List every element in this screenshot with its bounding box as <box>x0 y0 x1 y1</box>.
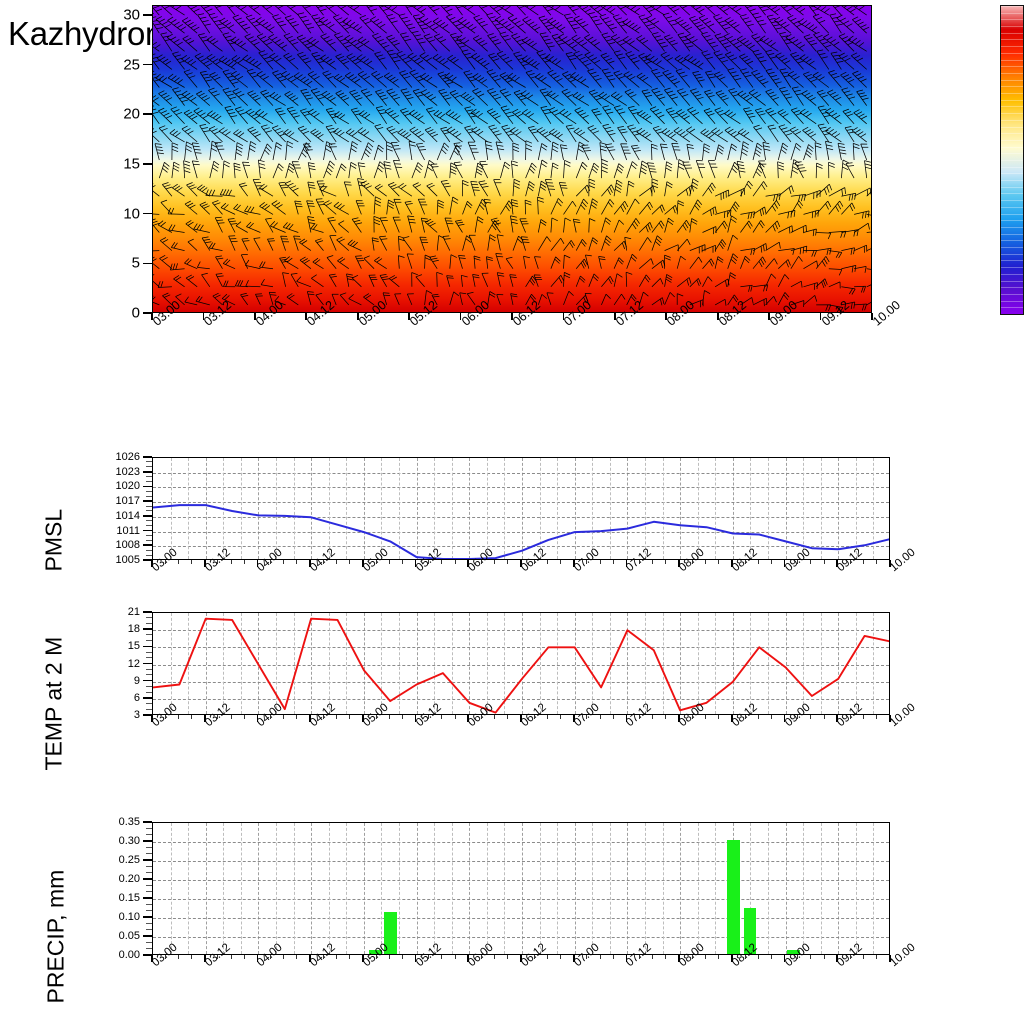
x-minor-tick <box>692 715 693 719</box>
grid-line-h <box>153 880 889 881</box>
x-minor-tick <box>560 955 561 959</box>
colorbar-band <box>1001 247 1023 248</box>
x-minor-tick <box>613 560 614 564</box>
x-minor-tick <box>613 715 614 719</box>
y-tick-label: 0.30 <box>90 835 140 847</box>
y-minor-tick <box>146 674 152 675</box>
x-minor-tick <box>336 955 337 959</box>
y-tick-label: 15 <box>90 155 140 172</box>
x-minor-tick <box>323 560 324 564</box>
x-minor-tick <box>758 955 759 959</box>
x-minor-tick <box>824 715 825 719</box>
y-minor-tick <box>146 466 152 467</box>
y-minor-tick <box>146 555 152 556</box>
y-minor-tick <box>146 496 152 497</box>
x-minor-tick <box>402 715 403 719</box>
x-minor-tick <box>560 560 561 564</box>
y-tick <box>143 680 152 682</box>
x-minor-tick <box>547 955 548 959</box>
y-tick <box>143 628 152 630</box>
colorbar-band <box>1001 307 1023 308</box>
y-tick-label: 0.15 <box>90 892 140 904</box>
x-minor-tick <box>718 955 719 959</box>
x-minor-tick <box>389 560 390 564</box>
y-tick-label: 5 <box>90 255 140 272</box>
grid-line-v-minor <box>663 823 664 954</box>
x-minor-tick <box>349 955 350 959</box>
grid-line-v-minor <box>241 823 242 954</box>
grid-line-v-minor <box>610 823 611 954</box>
grid-line-v-minor <box>873 823 874 954</box>
x-minor-tick <box>481 715 482 719</box>
grid-line-v-minor <box>171 823 172 954</box>
temp-plot-area[interactable] <box>152 612 890 715</box>
wind-barb-field <box>153 6 872 313</box>
x-minor-tick <box>389 955 390 959</box>
x-minor-tick <box>692 560 693 564</box>
grid-line-v <box>786 823 787 954</box>
colorbar-band <box>1001 187 1023 188</box>
series-line <box>153 613 890 715</box>
y-minor-tick <box>146 461 152 462</box>
x-minor-tick <box>652 560 653 564</box>
grid-line-v <box>469 823 470 954</box>
y-tick-label: 0.20 <box>90 873 140 885</box>
y-minor-tick <box>146 834 152 835</box>
grid-line-v-minor <box>294 823 295 954</box>
x-minor-tick <box>296 955 297 959</box>
x-minor-tick <box>231 715 232 719</box>
y-minor-tick <box>146 686 152 687</box>
y-tick-label: 0.10 <box>90 911 140 923</box>
x-minor-tick <box>455 715 456 719</box>
colorbar-band <box>1001 127 1023 128</box>
x-minor-tick <box>665 955 666 959</box>
y-tick <box>143 897 152 899</box>
x-minor-tick <box>165 955 166 959</box>
y-minor-tick <box>146 669 152 670</box>
x-minor-tick <box>534 715 535 719</box>
y-minor-tick <box>146 617 152 618</box>
grid-line-v-minor <box>592 823 593 954</box>
y-minor-tick <box>146 550 152 551</box>
x-minor-tick <box>665 715 666 719</box>
x-minor-tick <box>481 955 482 959</box>
colorbar-band <box>1001 281 1023 282</box>
colorbar-band <box>1001 234 1023 235</box>
y-tick-label: 0 <box>90 305 140 322</box>
y-tick-label: 10 <box>90 205 140 222</box>
x-minor-tick <box>376 715 377 719</box>
y-tick <box>143 471 152 473</box>
y-tick <box>143 697 152 699</box>
x-minor-tick <box>323 715 324 719</box>
colorbar-band <box>1001 287 1023 288</box>
y-tick-label: 9 <box>90 675 140 687</box>
grid-line-v-minor <box>768 823 769 954</box>
x-minor-tick <box>336 715 337 719</box>
x-minor-tick <box>850 715 851 719</box>
grid-line-h <box>153 918 889 919</box>
y-tick-label: 30 <box>90 6 140 23</box>
grid-line-v <box>575 823 576 954</box>
x-minor-tick <box>745 560 746 564</box>
x-minor-tick <box>547 715 548 719</box>
x-minor-tick <box>705 560 706 564</box>
x-minor-tick <box>217 715 218 719</box>
x-minor-tick <box>270 715 271 719</box>
y-tick <box>143 544 152 546</box>
x-minor-tick <box>824 560 825 564</box>
y-tick <box>143 916 152 918</box>
y-tick <box>143 113 152 115</box>
x-minor-tick <box>494 715 495 719</box>
y-minor-tick <box>146 520 152 521</box>
grid-line-v-minor <box>399 823 400 954</box>
grid-line-v <box>522 823 523 954</box>
x-minor-tick <box>771 715 772 719</box>
x-minor-tick <box>586 560 587 564</box>
x-minor-tick <box>613 955 614 959</box>
x-minor-tick <box>507 560 508 564</box>
y-minor-tick <box>146 929 152 930</box>
x-minor-tick <box>600 955 601 959</box>
y-tick-label: 3 <box>90 709 140 721</box>
y-tick <box>143 859 152 861</box>
colorbar-band <box>1001 86 1023 87</box>
x-tick-label: 10.00 <box>888 546 918 574</box>
grid-line-v-minor <box>276 823 277 954</box>
grid-line-v-minor <box>346 823 347 954</box>
colorbar-band <box>1001 133 1023 134</box>
colorbar-band <box>1001 180 1023 181</box>
series-line <box>153 458 890 560</box>
precip-axis-label: PRECIP, mm <box>43 784 70 1004</box>
colorbar-band <box>1001 60 1023 61</box>
colorbar-band <box>1001 220 1023 221</box>
x-minor-tick <box>850 955 851 959</box>
grid-line-v <box>206 823 207 954</box>
y-tick-label: 1017 <box>90 495 140 507</box>
x-minor-tick <box>217 560 218 564</box>
x-minor-tick <box>402 560 403 564</box>
y-tick-label: 1023 <box>90 466 140 478</box>
x-minor-tick <box>165 560 166 564</box>
y-tick <box>143 456 152 458</box>
colorbar-band <box>1001 214 1023 215</box>
x-minor-tick <box>692 955 693 959</box>
x-minor-tick <box>296 560 297 564</box>
colorbar-band <box>1001 254 1023 255</box>
precip-panel: PRECIP, mm 0.000.050.100.150.200.250.300… <box>0 815 1024 1005</box>
x-minor-tick <box>191 955 192 959</box>
y-tick-label: 0.35 <box>90 816 140 828</box>
y-minor-tick <box>146 481 152 482</box>
x-minor-tick <box>586 955 587 959</box>
x-minor-tick <box>600 560 601 564</box>
pmsl-panel: PMSL 10051008101110141017102010231026 03… <box>0 450 1024 590</box>
grid-line-h <box>153 842 889 843</box>
x-minor-tick <box>534 560 535 564</box>
x-minor-tick <box>428 955 429 959</box>
y-tick-label: 1005 <box>90 554 140 566</box>
colorbar-band <box>1001 274 1023 275</box>
x-minor-tick <box>876 560 877 564</box>
x-minor-tick <box>797 560 798 564</box>
x-minor-tick <box>389 715 390 719</box>
x-minor-tick <box>824 955 825 959</box>
x-minor-tick <box>639 560 640 564</box>
pmsl-plot-area[interactable] <box>152 457 890 560</box>
y-tick-label: 18 <box>90 623 140 635</box>
grid-line-v <box>417 823 418 954</box>
x-minor-tick <box>349 560 350 564</box>
grid-line-v <box>627 823 628 954</box>
grid-line-v <box>838 823 839 954</box>
x-minor-tick <box>283 955 284 959</box>
x-minor-tick <box>810 560 811 564</box>
y-minor-tick <box>146 525 152 526</box>
y-tick <box>143 486 152 488</box>
x-minor-tick <box>850 560 851 564</box>
precip-plot-area[interactable] <box>152 822 890 955</box>
colorbar-band <box>1001 173 1023 174</box>
y-minor-tick <box>146 634 152 635</box>
y-minor-tick <box>146 692 152 693</box>
x-minor-tick <box>441 560 442 564</box>
grid-line-v-minor <box>803 823 804 954</box>
y-minor-tick <box>146 942 152 943</box>
y-minor-tick <box>146 904 152 905</box>
x-minor-tick <box>336 560 337 564</box>
y-minor-tick <box>146 623 152 624</box>
x-minor-tick <box>771 560 772 564</box>
y-tick-label: 21 <box>90 606 140 618</box>
grid-line-v-minor <box>452 823 453 954</box>
y-minor-tick <box>146 853 152 854</box>
x-minor-tick <box>718 715 719 719</box>
x-minor-tick <box>534 955 535 959</box>
x-minor-tick <box>323 955 324 959</box>
y-tick <box>143 646 152 648</box>
x-minor-tick <box>494 560 495 564</box>
colorbar-band <box>1001 73 1023 74</box>
x-minor-tick <box>178 715 179 719</box>
x-minor-tick <box>428 560 429 564</box>
x-minor-tick <box>270 560 271 564</box>
y-tick <box>143 14 152 16</box>
x-minor-tick <box>402 955 403 959</box>
colorbar-band <box>1001 33 1023 34</box>
x-minor-tick <box>178 560 179 564</box>
x-tick-label: 10.00 <box>888 941 918 969</box>
x-minor-tick <box>178 955 179 959</box>
colorbar-band <box>1001 120 1023 121</box>
x-minor-tick <box>494 955 495 959</box>
y-tick <box>143 64 152 66</box>
grid-line-v-minor <box>557 823 558 954</box>
x-minor-tick <box>270 955 271 959</box>
colorbar-band <box>1001 13 1023 14</box>
grid-line-v-minor <box>715 823 716 954</box>
y-minor-tick <box>146 640 152 641</box>
y-tick-label: 1026 <box>90 451 140 463</box>
grid-line-v <box>311 823 312 954</box>
temperature-colorbar <box>1000 5 1024 315</box>
x-minor-tick <box>283 560 284 564</box>
colorbar-band <box>1001 106 1023 107</box>
x-minor-tick <box>349 715 350 719</box>
y-tick <box>143 500 152 502</box>
y-tick-label: 1020 <box>90 480 140 492</box>
y-minor-tick <box>146 540 152 541</box>
y-minor-tick <box>146 476 152 477</box>
grid-line-v-minor <box>540 823 541 954</box>
grid-line-v-minor <box>329 823 330 954</box>
x-minor-tick <box>863 715 864 719</box>
colorbar-band <box>1001 140 1023 141</box>
pmsl-axis-label: PMSL <box>41 452 68 572</box>
colorbar-band <box>1001 93 1023 94</box>
colorbar-band <box>1001 227 1023 228</box>
colorbar-band <box>1001 46 1023 47</box>
x-minor-tick <box>600 715 601 719</box>
x-minor-tick <box>507 715 508 719</box>
colorbar-band <box>1001 160 1023 161</box>
x-minor-tick <box>283 715 284 719</box>
y-tick-label: 12 <box>90 658 140 670</box>
x-minor-tick <box>586 715 587 719</box>
y-minor-tick <box>146 910 152 911</box>
y-minor-tick <box>146 828 152 829</box>
grid-line-v-minor <box>434 823 435 954</box>
grid-line-v <box>364 823 365 954</box>
y-minor-tick <box>146 872 152 873</box>
grid-line-v-minor <box>698 823 699 954</box>
x-minor-tick <box>455 955 456 959</box>
grid-line-v-minor <box>223 823 224 954</box>
x-minor-tick <box>455 560 456 564</box>
y-minor-tick <box>146 948 152 949</box>
colorbar-band <box>1001 207 1023 208</box>
x-minor-tick <box>441 715 442 719</box>
y-minor-tick <box>146 703 152 704</box>
colorbar-band <box>1001 113 1023 114</box>
y-minor-tick <box>146 652 152 653</box>
y-minor-tick <box>146 491 152 492</box>
grid-line-h <box>153 937 889 938</box>
y-minor-tick <box>146 709 152 710</box>
y-tick <box>143 611 152 613</box>
x-minor-tick <box>639 955 640 959</box>
wind-plot-area[interactable] <box>152 5 872 313</box>
x-minor-tick <box>771 955 772 959</box>
grid-line-v-minor <box>487 823 488 954</box>
grid-line-v-minor <box>381 823 382 954</box>
x-minor-tick <box>560 715 561 719</box>
y-tick-label: 25 <box>90 56 140 73</box>
x-minor-tick <box>705 955 706 959</box>
colorbar-band <box>1001 301 1023 302</box>
colorbar-band <box>1001 167 1023 168</box>
temp-axis-label: TEMP at 2 M <box>41 571 68 771</box>
x-minor-tick <box>745 955 746 959</box>
x-minor-tick <box>876 715 877 719</box>
y-tick <box>143 263 152 265</box>
x-minor-tick <box>863 560 864 564</box>
x-minor-tick <box>665 560 666 564</box>
grid-line-v-minor <box>821 823 822 954</box>
colorbar-band <box>1001 240 1023 241</box>
colorbar-band <box>1001 100 1023 101</box>
y-tick <box>143 163 152 165</box>
x-minor-tick <box>547 560 548 564</box>
y-tick-label: 0.00 <box>90 949 140 961</box>
colorbar-band <box>1001 6 1023 7</box>
grid-line-v-minor <box>856 823 857 954</box>
colorbar-band <box>1001 39 1023 40</box>
y-minor-tick <box>146 657 152 658</box>
y-minor-tick <box>146 891 152 892</box>
y-tick-label: 15 <box>90 640 140 652</box>
x-minor-tick <box>441 955 442 959</box>
x-minor-tick <box>428 715 429 719</box>
colorbar-band <box>1001 80 1023 81</box>
grid-line-v <box>258 823 259 954</box>
y-tick-label: 20 <box>90 106 140 123</box>
y-minor-tick <box>146 923 152 924</box>
wind-cross-section-panel: 051015202530 03.0003.1204.0004.1205.0005… <box>0 0 1024 360</box>
y-tick-label: 1011 <box>90 525 140 537</box>
colorbar-band <box>1001 53 1023 54</box>
y-minor-tick <box>146 506 152 507</box>
x-minor-tick <box>191 560 192 564</box>
colorbar-band <box>1001 66 1023 67</box>
y-minor-tick <box>146 866 152 867</box>
x-tick-label: 10.00 <box>888 701 918 729</box>
x-minor-tick <box>639 715 640 719</box>
colorbar-band <box>1001 153 1023 154</box>
grid-line-v-minor <box>188 823 189 954</box>
x-minor-tick <box>481 560 482 564</box>
y-tick-label: 1008 <box>90 539 140 551</box>
x-minor-tick <box>244 715 245 719</box>
y-tick <box>143 878 152 880</box>
x-minor-tick <box>758 715 759 719</box>
grid-line-h <box>153 899 889 900</box>
y-tick-label: 0.05 <box>90 930 140 942</box>
x-minor-tick <box>376 560 377 564</box>
y-tick-label: 0.25 <box>90 854 140 866</box>
x-minor-tick <box>244 560 245 564</box>
y-tick <box>143 840 152 842</box>
colorbar-band <box>1001 26 1023 27</box>
x-minor-tick <box>810 715 811 719</box>
y-minor-tick <box>146 510 152 511</box>
y-minor-tick <box>146 847 152 848</box>
grid-line-v-minor <box>504 823 505 954</box>
precip-bar <box>727 840 740 954</box>
x-minor-tick <box>652 715 653 719</box>
grid-line-v-minor <box>645 823 646 954</box>
x-minor-tick <box>705 715 706 719</box>
y-minor-tick <box>146 535 152 536</box>
colorbar-band <box>1001 267 1023 268</box>
x-minor-tick <box>797 715 798 719</box>
x-tick-label: 10.00 <box>870 298 903 329</box>
colorbar-band <box>1001 294 1023 295</box>
colorbar-band <box>1001 147 1023 148</box>
